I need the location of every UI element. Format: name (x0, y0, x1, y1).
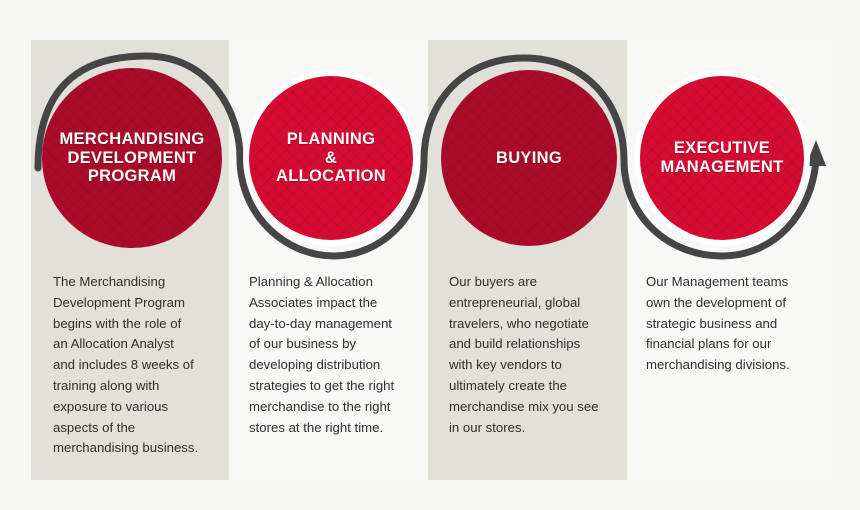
stage-circle-label: BUYING (496, 149, 562, 168)
stage-circle-label: MERCHANDISING DEVELOPMENT PROGRAM (59, 130, 204, 186)
stage-circle-merchandising-development-program[interactable]: MERCHANDISING DEVELOPMENT PROGRAM (42, 68, 222, 248)
stage-circle-planning-and-allocation[interactable]: PLANNING & ALLOCATION (249, 76, 413, 240)
stage-circle-buying[interactable]: BUYING (441, 70, 617, 246)
stage-circle-executive-management[interactable]: EXECUTIVE MANAGEMENT (640, 76, 804, 240)
diagram-canvas: MERCHANDISING DEVELOPMENT PROGRAM PLANNI… (0, 0, 860, 510)
stage-description-merchandising-development-program: The Merchandising Development Program be… (53, 272, 225, 459)
stage-description-executive-management: Our Management teams own the development… (646, 272, 824, 376)
stage-circle-label: EXECUTIVE MANAGEMENT (660, 139, 783, 176)
stage-description-buying: Our buyers are entrepreneurial, global t… (449, 272, 625, 438)
stage-circle-label: PLANNING & ALLOCATION (276, 130, 386, 186)
stage-description-planning-and-allocation: Planning & Allocation Associates impact … (249, 272, 425, 438)
